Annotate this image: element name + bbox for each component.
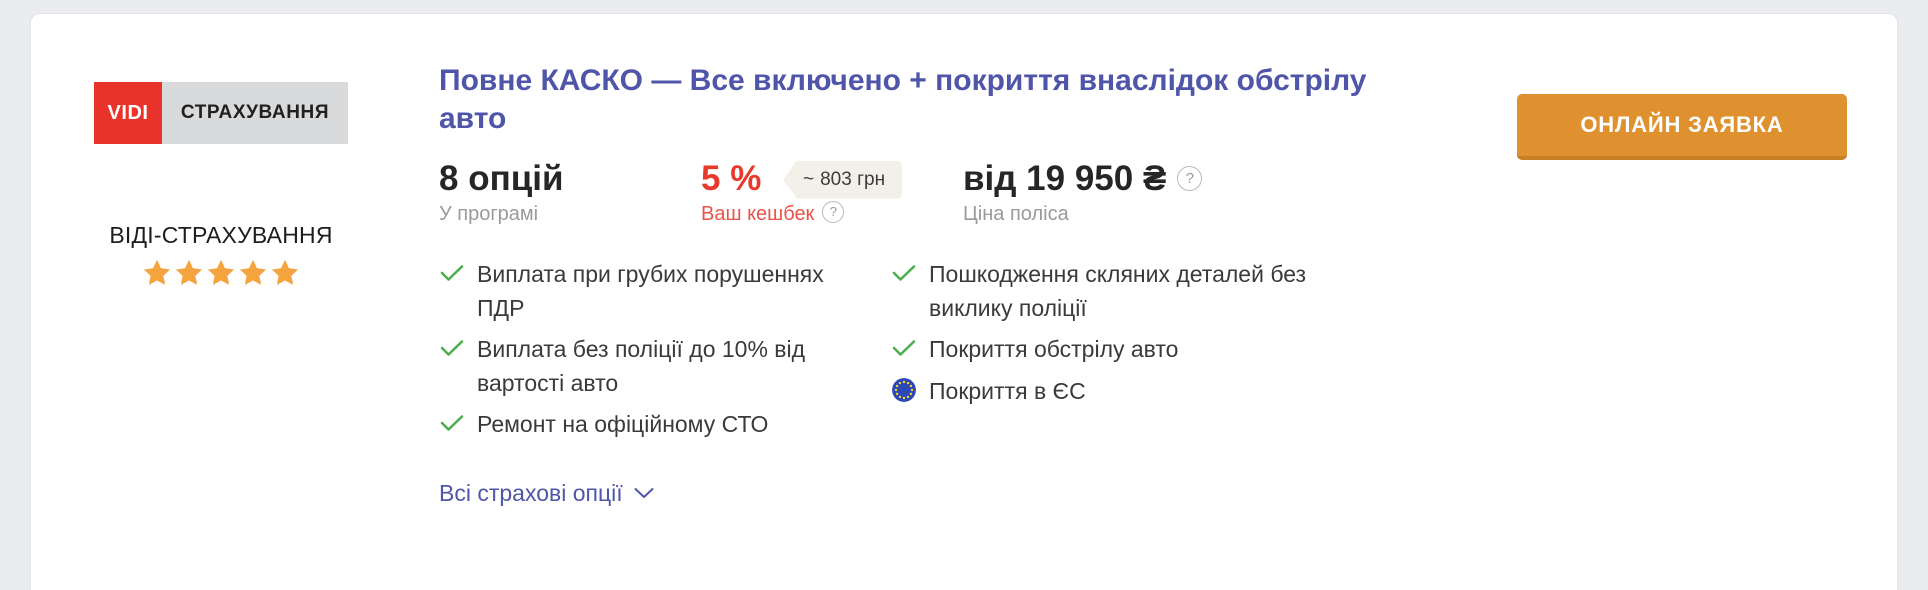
stat-options: 8 опцій У програмі xyxy=(439,159,701,226)
stat-price-value-row: від 19 950 ₴ ? xyxy=(963,159,1202,198)
eu-flag-icon xyxy=(891,375,917,405)
list-item-label: Виплата при грубих порушеннях ПДР xyxy=(477,258,859,325)
cashback-amount-badge: ~ 803 грн xyxy=(783,161,902,199)
check-icon xyxy=(891,258,917,288)
star-icon xyxy=(174,258,204,287)
company-rating-stars xyxy=(142,258,300,287)
vidi-logo-mark-text: VIDI xyxy=(108,102,149,125)
company-logo: VIDI СТРАХУВАННЯ xyxy=(94,82,348,144)
company-brand-column: VIDI СТРАХУВАННЯ ВІДІ-СТРАХУВАННЯ xyxy=(31,14,411,287)
offer-features: Виплата при грубих порушеннях ПДР Виплат… xyxy=(439,258,1487,450)
offer-title[interactable]: Повне КАСКО — Все включено + покриття вн… xyxy=(439,62,1399,139)
insurance-offer-card: VIDI СТРАХУВАННЯ ВІДІ-СТРАХУВАННЯ xyxy=(30,13,1898,590)
star-icon xyxy=(270,258,300,287)
list-item: Покриття обстрілу авто xyxy=(891,333,1311,367)
price-help-icon[interactable]: ? xyxy=(1177,166,1202,191)
offer-stats-row: 8 опцій У програмі 5 % Ваш кешбек ? ~ 80… xyxy=(439,159,1487,226)
stat-price-label: Ціна поліса xyxy=(963,203,1202,226)
feature-column-right: Пошкодження скляних деталей без виклику … xyxy=(891,258,1311,450)
stat-cashback-label: Ваш кешбек xyxy=(701,203,814,226)
star-icon xyxy=(206,258,236,287)
all-insurance-options-link[interactable]: Всі страхові опції xyxy=(439,480,654,507)
check-icon xyxy=(891,333,917,363)
feature-column-left: Виплата при грубих порушеннях ПДР Виплат… xyxy=(439,258,859,450)
list-item-label: Пошкодження скляних деталей без виклику … xyxy=(929,258,1311,325)
list-item-label: Покриття обстрілу авто xyxy=(929,333,1178,367)
star-icon xyxy=(238,258,268,287)
chevron-down-icon xyxy=(634,487,654,499)
cashback-amount-text: 803 грн xyxy=(814,169,885,191)
company-name: ВІДІ-СТРАХУВАННЯ xyxy=(109,222,332,249)
check-icon xyxy=(439,333,465,363)
check-icon xyxy=(439,408,465,438)
check-icon xyxy=(439,258,465,288)
vidi-logo-mark: VIDI xyxy=(94,82,162,144)
list-item: Пошкодження скляних деталей без виклику … xyxy=(891,258,1311,325)
stat-price-value: від 19 950 ₴ xyxy=(963,159,1166,198)
list-item-label: Виплата без поліції до 10% від вартості … xyxy=(477,333,859,400)
list-item: Ремонт на офіційному СТО xyxy=(439,408,859,442)
page-root: VIDI СТРАХУВАННЯ ВІДІ-СТРАХУВАННЯ xyxy=(0,0,1928,590)
cashback-help-icon[interactable]: ? xyxy=(822,201,844,223)
star-icon xyxy=(142,258,172,287)
stat-cashback: 5 % Ваш кешбек ? ~ 803 грн xyxy=(701,159,963,226)
list-item: Виплата без поліції до 10% від вартості … xyxy=(439,333,859,400)
stat-options-value: 8 опцій xyxy=(439,159,701,198)
list-item: Виплата при грубих порушеннях ПДР xyxy=(439,258,859,325)
offer-cta-column: ОНЛАЙН ЗАЯВКА xyxy=(1487,14,1897,160)
list-item: Покриття в ЄС xyxy=(891,375,1311,409)
list-item-label: Ремонт на офіційному СТО xyxy=(477,408,768,442)
offer-main-column: Повне КАСКО — Все включено + покриття вн… xyxy=(411,14,1487,507)
all-insurance-options-label: Всі страхові опції xyxy=(439,480,623,507)
list-item-label: Покриття в ЄС xyxy=(929,375,1086,409)
vidi-logo-word-text: СТРАХУВАННЯ xyxy=(181,102,329,124)
vidi-logo-word-block: СТРАХУВАННЯ xyxy=(162,82,348,144)
cashback-amount-tilde: ~ xyxy=(797,169,814,191)
stat-cashback-label-row: Ваш кешбек ? xyxy=(701,198,963,226)
online-application-button[interactable]: ОНЛАЙН ЗАЯВКА xyxy=(1517,94,1847,160)
stat-price: від 19 950 ₴ ? Ціна поліса xyxy=(963,159,1202,226)
stat-options-label: У програмі xyxy=(439,203,701,226)
